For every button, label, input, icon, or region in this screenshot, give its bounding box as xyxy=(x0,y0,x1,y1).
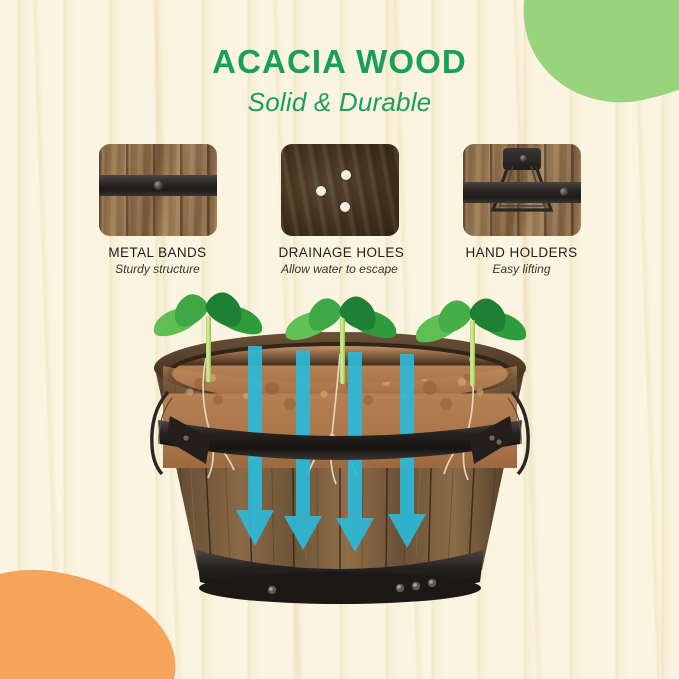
page-subtitle: Solid & Durable xyxy=(0,87,679,118)
feature-description: Allow water to escape xyxy=(279,262,401,276)
feature-card-hand-holders: HAND HOLDERS Easy lifting xyxy=(461,144,583,276)
feature-list: METAL BANDS Sturdy structure DRAINAGE HO… xyxy=(0,144,679,276)
seedling xyxy=(282,292,402,387)
stem-icon xyxy=(470,320,475,386)
feature-title: METAL BANDS xyxy=(97,245,219,260)
feature-card-metal-bands: METAL BANDS Sturdy structure xyxy=(97,144,219,276)
dark-wood-texture xyxy=(281,144,399,236)
feature-description: Sturdy structure xyxy=(97,262,219,276)
stem-icon xyxy=(340,318,345,384)
planter-product-image xyxy=(0,288,679,633)
hand-holder-thumbnail-image xyxy=(463,144,581,236)
rivet-icon xyxy=(154,181,163,190)
drainage-hole-icon xyxy=(316,186,326,196)
feature-card-drainage-holes: DRAINAGE HOLES Allow water to escape xyxy=(279,144,401,276)
drainage-hole-icon xyxy=(340,202,350,212)
product-infographic: ACACIA WOOD Solid & Durable METAL BANDS … xyxy=(0,0,679,679)
feature-description: Easy lifting xyxy=(461,262,583,276)
feature-title: DRAINAGE HOLES xyxy=(279,245,401,260)
stem-icon xyxy=(206,316,211,382)
header: ACACIA WOOD Solid & Durable xyxy=(0,44,679,118)
feature-title: HAND HOLDERS xyxy=(461,245,583,260)
drainage-holes-thumbnail-image xyxy=(281,144,399,236)
seedling xyxy=(148,290,268,385)
drainage-hole-icon xyxy=(341,170,351,180)
metal-band-thumbnail-image xyxy=(99,144,217,236)
seedling xyxy=(412,294,532,389)
rivet-icon xyxy=(560,188,568,196)
page-title: ACACIA WOOD xyxy=(0,44,679,81)
